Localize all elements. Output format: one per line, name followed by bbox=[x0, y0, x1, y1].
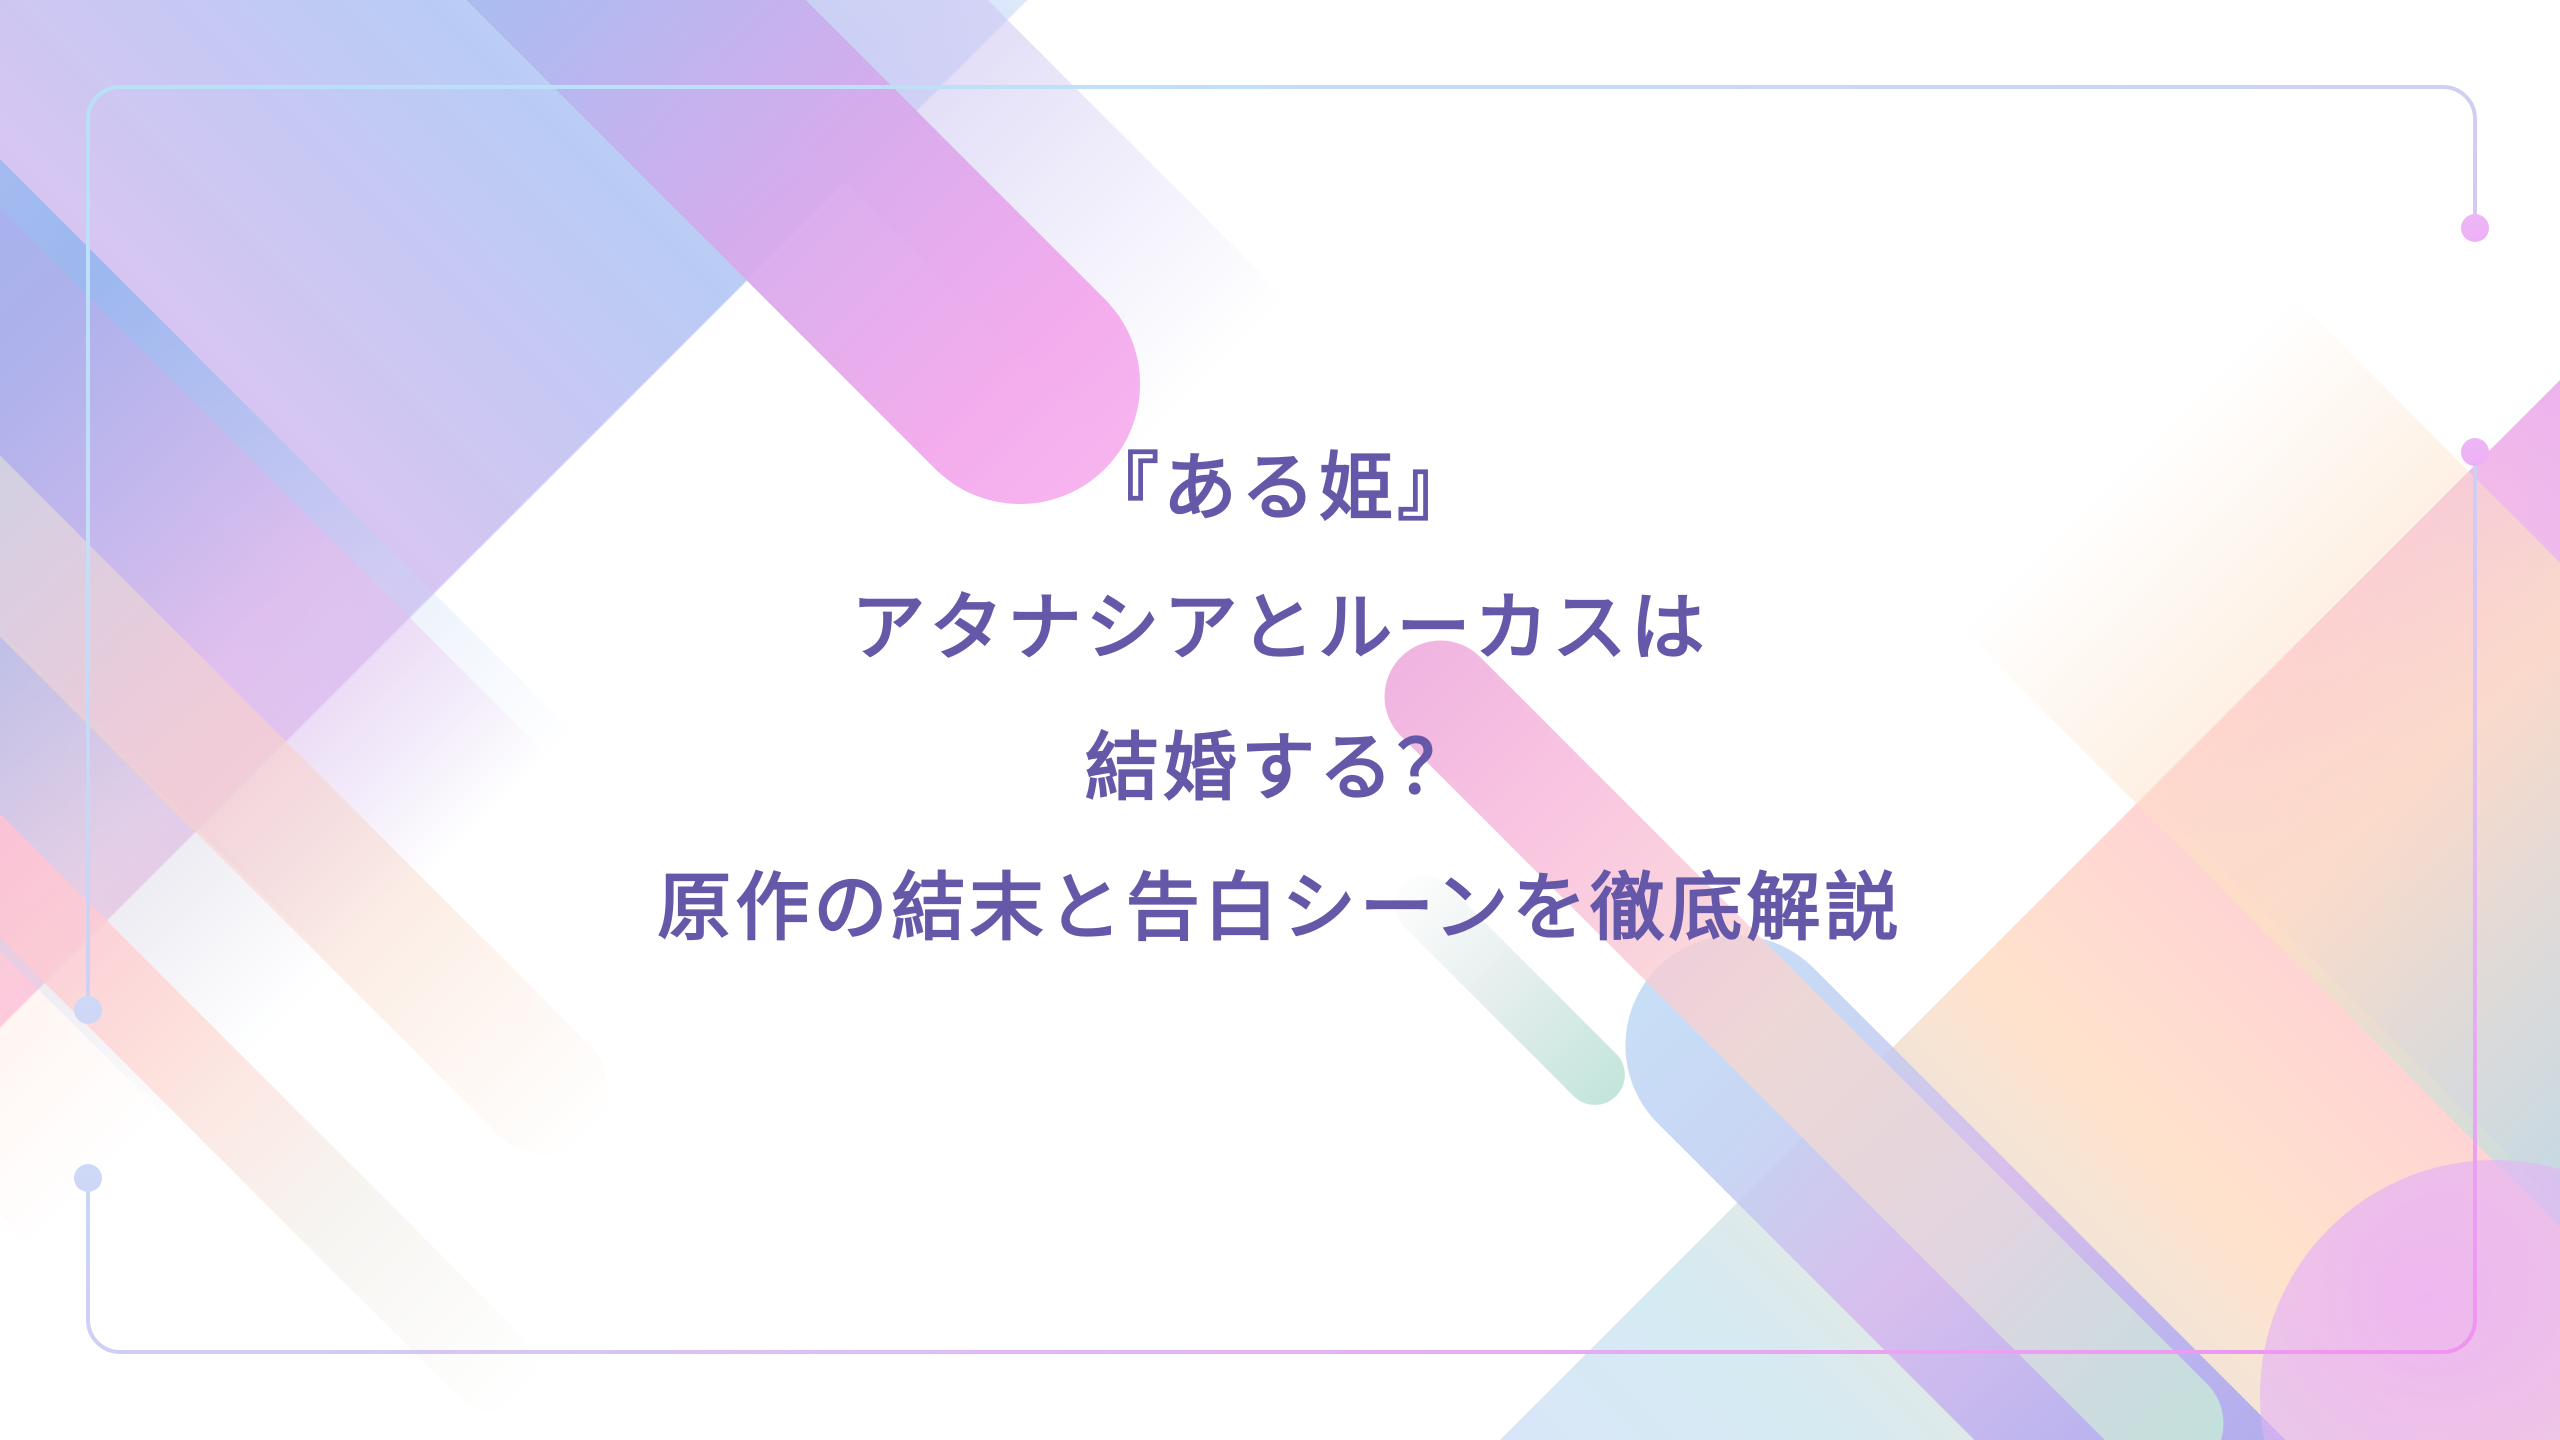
title-line-3: 結婚する？ bbox=[0, 698, 2560, 838]
page-title: 『ある姫』 アタナシアとルーカスは 結婚する？ 原作の結末と告白シーンを徹底解説 bbox=[0, 418, 2560, 978]
corner-blob-bottom-right bbox=[2260, 1160, 2560, 1440]
frame-dot-right-upper bbox=[2461, 214, 2489, 242]
title-line-1: 『ある姫』 bbox=[0, 418, 2560, 558]
title-line-4: 原作の結末と告白シーンを徹底解説 bbox=[0, 838, 2560, 978]
frame-dot-left-lower bbox=[74, 1164, 102, 1192]
frame-dot-left-upper bbox=[74, 996, 102, 1024]
title-line-2: アタナシアとルーカスは bbox=[0, 558, 2560, 698]
diagonal-band-top-edge bbox=[63, 0, 1286, 462]
thumbnail-canvas: 『ある姫』 アタナシアとルーカスは 結婚する？ 原作の結末と告白シーンを徹底解説 bbox=[0, 0, 2560, 1440]
